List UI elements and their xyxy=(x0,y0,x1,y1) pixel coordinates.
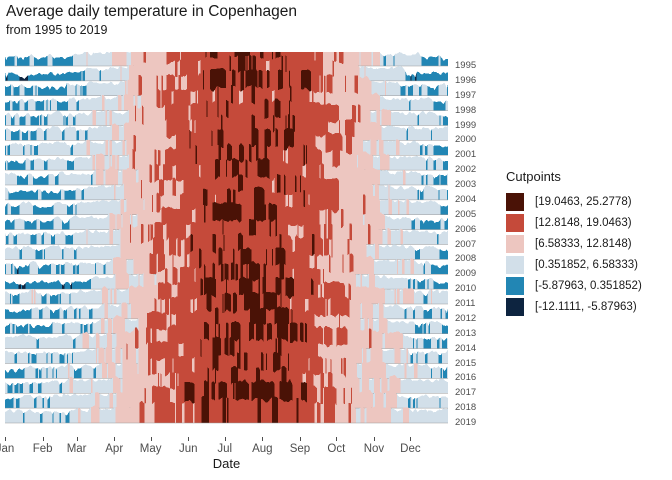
ridgeline-band-area xyxy=(69,293,70,304)
ridgeline-band-area xyxy=(62,129,64,140)
ridgeline-band-area xyxy=(15,383,19,393)
ridgeline-band-area xyxy=(41,380,59,393)
x-tick-mark xyxy=(5,437,6,441)
ridgeline-band-area xyxy=(46,353,47,364)
ridgeline-band-area xyxy=(10,322,12,333)
ridgeline-band-area xyxy=(421,175,423,185)
ridgeline-band-area xyxy=(56,368,57,379)
ridgeline-band-area xyxy=(447,84,448,96)
ridgeline-band-area xyxy=(226,397,227,423)
ridgeline-band-area xyxy=(384,140,396,155)
ridgeline-band-area xyxy=(222,397,226,423)
ridgeline-band-area xyxy=(44,129,46,140)
ridgeline-band-area xyxy=(20,202,33,215)
ridgeline-band-area xyxy=(415,73,416,81)
ridgeline-band-area xyxy=(35,368,37,379)
ridgeline-band-area xyxy=(385,331,403,348)
ridgeline-band-area xyxy=(71,144,73,155)
ridgeline-band-area xyxy=(413,307,415,319)
ridgeline-band-area xyxy=(115,362,122,379)
ridgeline-band-area xyxy=(413,352,417,363)
ridgeline-band-area xyxy=(418,279,425,289)
ridgeline-band-area xyxy=(443,116,448,126)
ridgeline-band-area xyxy=(75,188,81,200)
ridgeline-band-area xyxy=(5,263,6,274)
ridgeline-band-area xyxy=(61,412,66,423)
ridgeline-band-area xyxy=(62,219,69,229)
ridgeline-band-area xyxy=(397,289,399,304)
ridgeline-band-area xyxy=(441,308,442,318)
ridgeline-band-area xyxy=(51,353,52,363)
ridgeline-band-area xyxy=(325,299,326,319)
ridgeline-band-area xyxy=(54,202,67,215)
ridgeline-band-area xyxy=(66,115,68,125)
ridgeline-band-area xyxy=(40,115,41,126)
ridgeline-band-area xyxy=(86,140,90,156)
ridgeline-band-area xyxy=(30,115,38,125)
ridgeline-band-area xyxy=(115,155,116,170)
ridgeline-band-area xyxy=(429,278,434,289)
ridgeline-band-area xyxy=(106,258,113,274)
ridgeline-band-area xyxy=(81,189,83,200)
ridgeline-band-area xyxy=(113,257,126,275)
ridgeline-band-area xyxy=(410,397,412,408)
ridgeline-band-area xyxy=(57,100,68,110)
ridgeline-band-area xyxy=(415,217,420,229)
ridgeline-band-area xyxy=(17,351,28,363)
ridgeline-band-area xyxy=(431,129,432,141)
ridgeline-band-area xyxy=(120,66,121,81)
x-tick-mark xyxy=(410,437,411,441)
ridgeline-band-area xyxy=(50,308,60,319)
ridgeline-band-area xyxy=(37,351,47,363)
ridgeline-band-area xyxy=(441,57,448,66)
year-axis-label: 2013 xyxy=(455,329,476,339)
ridgeline-band-area xyxy=(437,338,439,349)
ridgeline-band-area xyxy=(92,110,96,126)
ridgeline-band-area xyxy=(89,308,93,319)
ridgeline-band-area xyxy=(117,288,129,304)
legend-item[interactable]: [-5.87963, 0.351852) xyxy=(503,275,671,296)
legend-rows: [19.0463, 25.2778)[12.8148, 19.0463)[6.5… xyxy=(503,191,671,317)
ridgeline-band-area xyxy=(68,113,73,125)
ridgeline-band-area xyxy=(7,73,19,81)
ridgeline-band-area xyxy=(399,140,420,155)
year-axis-label: 1996 xyxy=(455,76,476,86)
x-tick-label: Jun xyxy=(179,442,198,456)
ridgeline-band-area xyxy=(115,346,120,364)
ridgeline-band-area xyxy=(395,52,422,66)
ridgeline-band-area xyxy=(18,264,29,274)
ridgeline-band-area xyxy=(427,289,431,304)
ridgeline-band-area xyxy=(395,348,401,364)
ridgeline-band-area xyxy=(361,52,372,66)
ridgeline-band-area xyxy=(101,318,105,334)
ridgeline-band-area xyxy=(118,170,123,185)
ridgeline-band-area xyxy=(44,160,48,170)
x-tick-label: Sep xyxy=(290,442,310,456)
ridgeline-band-area xyxy=(33,205,54,215)
ridgeline-band-area xyxy=(75,333,82,349)
ridgeline-band-area xyxy=(5,397,14,408)
ridgeline-band-area xyxy=(20,395,35,408)
year-axis-label: 2000 xyxy=(455,135,476,145)
ridgeline-band-area xyxy=(95,392,100,408)
ridgeline-band-area xyxy=(418,364,431,379)
ridgeline-band-area xyxy=(153,193,157,214)
ridgeline-band-area xyxy=(438,353,442,363)
ridgeline-band-area xyxy=(33,289,34,304)
ridgeline-band-area xyxy=(47,366,52,378)
ridgeline-band-area xyxy=(60,307,64,319)
ridgeline-band-area xyxy=(5,323,10,333)
ridgeline-band-area xyxy=(20,129,22,140)
ridgeline-band-area xyxy=(47,54,52,66)
ridgeline-band-area xyxy=(368,224,370,245)
legend-item[interactable]: [6.58333, 12.8148) xyxy=(503,233,671,254)
ridgeline-band-area xyxy=(88,52,112,66)
ridgeline-band-area xyxy=(54,367,56,379)
ridgeline-band-area xyxy=(26,113,31,126)
ridgeline-band-area xyxy=(108,288,110,304)
ridgeline-band-area xyxy=(16,323,28,333)
ridgeline-band-area xyxy=(67,353,68,363)
ridgeline-band-area xyxy=(105,155,110,170)
ridgeline-band-area xyxy=(125,81,126,96)
ridgeline-band-area xyxy=(24,219,36,229)
ridgeline-band-area xyxy=(75,264,76,274)
year-axis-label: 2005 xyxy=(455,210,476,220)
ridgeline-band-area xyxy=(418,394,440,408)
ridgeline-band-area xyxy=(391,408,403,423)
ridgeline-band-area xyxy=(380,154,390,171)
ridgeline-band-area xyxy=(358,151,373,170)
ridgeline-band-area xyxy=(125,140,126,155)
ridgeline-band-area xyxy=(62,284,64,289)
ridgeline-band-area xyxy=(324,401,335,423)
ridgeline-band-area xyxy=(73,229,86,245)
ridgeline-band-area xyxy=(329,254,330,274)
ridgeline-band-area xyxy=(63,309,67,319)
ridgeline-band-area xyxy=(412,74,416,81)
ridgeline-band-area xyxy=(96,363,102,379)
ridgeline-band-area xyxy=(415,323,422,333)
ridgeline-band-area xyxy=(40,413,42,423)
ridgeline-band-area xyxy=(20,84,25,96)
legend-item-label: [6.58333, 12.8148) xyxy=(535,237,632,251)
ridgeline-band-area xyxy=(32,145,34,156)
legend-item[interactable]: [12.8148, 19.0463) xyxy=(503,212,671,233)
ridgeline-band-area xyxy=(381,377,387,394)
ridgeline-band-area xyxy=(73,140,86,156)
ridgeline-band-area xyxy=(103,263,105,274)
ridgeline-band-area xyxy=(380,53,384,66)
ridgeline-band-area xyxy=(114,185,115,200)
ridgeline-band-area xyxy=(438,55,440,66)
ridgeline-band-area xyxy=(68,97,77,110)
year-axis-label: 2019 xyxy=(455,418,476,428)
ridgeline-band-area xyxy=(91,378,92,393)
ridgeline-band-area xyxy=(24,366,35,379)
x-tick-label: Jul xyxy=(217,442,232,456)
ridgeline-band-area xyxy=(409,100,410,111)
ridgeline-band-area xyxy=(415,249,420,260)
ridgeline-band-area xyxy=(352,388,373,408)
ridgeline-band-area xyxy=(26,280,62,289)
ridgeline-band-area xyxy=(431,337,437,349)
ridgeline-band-area xyxy=(412,218,416,229)
ridgeline-band-area xyxy=(39,308,43,319)
ridgeline-band-area xyxy=(408,279,410,290)
ridgeline-band-area xyxy=(77,264,79,274)
ridgeline-band-area xyxy=(431,265,448,275)
ridgeline-band-area xyxy=(443,367,447,378)
ridgeline-band-area xyxy=(344,254,350,274)
ridgeline-band-area xyxy=(369,328,371,348)
ridgeline-band-area xyxy=(69,408,77,423)
ridgeline-band-area xyxy=(79,309,80,319)
ridgeline-band-area xyxy=(335,403,348,423)
ridgeline-band-area xyxy=(75,204,76,214)
ridgeline-band-area xyxy=(10,143,23,156)
ridgeline-band-area xyxy=(416,351,417,363)
ridgeline-band-area xyxy=(55,174,59,185)
ridgeline-band-area xyxy=(363,347,367,363)
ridgeline-band-area xyxy=(33,382,38,393)
ridgeline-band-area xyxy=(102,286,108,304)
ridgeline-band-area xyxy=(447,190,448,200)
ridgeline-band-area xyxy=(11,263,12,274)
ridgeline-band-area xyxy=(37,127,44,140)
ridgeline-band-area xyxy=(376,109,380,125)
ridgeline-band-area xyxy=(387,320,415,334)
ridgeline-band-area xyxy=(96,170,103,185)
ridgeline-band-area xyxy=(416,398,417,408)
ridgeline-band-area xyxy=(41,367,46,378)
ridgeline-band-area xyxy=(419,190,420,200)
ridgeline-band-area xyxy=(52,322,62,334)
year-axis-label: 2017 xyxy=(455,388,476,398)
ridgeline-band-area xyxy=(72,352,73,363)
ridgeline-band-area xyxy=(427,279,428,289)
ridgeline-band-area xyxy=(432,366,441,378)
ridgeline-band-area xyxy=(29,353,31,364)
ridgeline-band-area xyxy=(379,302,384,319)
ridgeline-band-area xyxy=(361,303,362,319)
ridgeline-band-area xyxy=(407,199,409,215)
legend-item[interactable]: [19.0463, 25.2778) xyxy=(503,191,671,212)
ridgeline-band-area xyxy=(333,328,337,348)
ridgeline-band-area xyxy=(7,144,9,155)
ridgeline-band-area xyxy=(47,396,49,408)
ridgeline-band-area xyxy=(15,55,17,66)
chart-subtitle: from 1995 to 2019 xyxy=(6,22,486,39)
legend-item[interactable]: [0.351852, 6.58333) xyxy=(503,254,671,275)
ridgeline-band-area xyxy=(9,232,14,244)
ridgeline-band-area xyxy=(11,293,12,304)
ridgeline-band-area xyxy=(440,115,441,125)
ridgeline-band-area xyxy=(109,213,115,230)
ridgeline-band-area xyxy=(414,260,424,274)
ridgeline-band-area xyxy=(61,189,65,200)
ridgeline-band-area xyxy=(401,86,406,96)
year-axis-label: 1995 xyxy=(455,61,476,71)
ridgeline-band-area xyxy=(384,392,386,408)
ridgeline-band-area xyxy=(28,353,29,364)
ridgeline-band-area xyxy=(440,174,441,185)
ridgeline-band-area xyxy=(47,157,66,170)
ridgeline-band-area xyxy=(28,71,81,81)
ridgeline-band-area xyxy=(182,402,184,423)
ridgeline-band-area xyxy=(112,289,114,304)
ridgeline-band-area xyxy=(79,95,102,111)
ridgeline-band-area xyxy=(443,161,448,170)
ridgeline-band-area xyxy=(14,85,20,95)
ridgeline-band-area xyxy=(66,234,73,244)
ridgeline-band-area xyxy=(83,70,85,81)
ridgeline-band-area xyxy=(157,253,158,274)
ridgeline-band-area xyxy=(365,196,380,215)
ridgeline-band-area xyxy=(403,334,413,349)
x-tick-mark xyxy=(262,437,263,441)
ridgeline-band-area xyxy=(60,264,61,274)
ridgeline-band-area xyxy=(406,85,408,96)
ridgeline-band-area xyxy=(136,348,138,364)
ridgeline-band-area xyxy=(88,229,110,244)
ridgeline-band-area xyxy=(44,232,51,245)
x-tick-mark xyxy=(43,437,44,441)
ridgeline-band-area xyxy=(80,324,82,334)
ridgeline-band-area xyxy=(5,84,11,95)
ridgeline-band-area xyxy=(67,306,74,319)
ridgeline-band-area xyxy=(67,204,73,215)
ridgeline-band-area xyxy=(414,338,416,349)
ridgeline-band-area xyxy=(6,263,11,274)
ridgeline-band-area xyxy=(64,262,73,274)
ridgeline-band-area xyxy=(23,145,24,155)
ridgeline-band-area xyxy=(436,158,443,170)
ridgeline-band-area xyxy=(69,377,73,394)
ridgeline-band-area xyxy=(418,351,425,363)
ridgeline-band-area xyxy=(74,248,76,259)
ridgeline-band-area xyxy=(54,216,62,229)
ridgeline-band-area xyxy=(67,160,74,170)
ridgeline-band-area xyxy=(380,378,381,393)
ridgeline-band-area xyxy=(44,396,48,408)
ridgeline-band-area xyxy=(24,409,40,423)
x-tick-label: Aug xyxy=(252,442,272,456)
ridgeline-band-area xyxy=(35,249,42,259)
year-axis: 1995199619971998199920002001200220032004… xyxy=(452,52,498,437)
ridgeline-band-area xyxy=(34,56,47,66)
ridgeline-band-area xyxy=(20,99,25,111)
ridgeline-band-area xyxy=(403,288,414,304)
ridgeline-band-area xyxy=(24,144,30,155)
ridgeline-band-area xyxy=(423,144,425,155)
ridgeline-band-area xyxy=(420,144,422,155)
ridgeline-band-area xyxy=(314,402,316,423)
ridgeline-band-area xyxy=(105,95,118,111)
ridgeline-band-area xyxy=(96,110,106,126)
ridgeline-band-area xyxy=(7,159,25,170)
ridgeline-band-area xyxy=(112,140,123,155)
x-tick-label: Nov xyxy=(364,442,384,456)
ridgeline-band-area xyxy=(78,408,80,423)
ridgeline-band-area xyxy=(441,368,442,379)
ridgeline-band-area xyxy=(34,145,38,155)
ridgeline-band-area xyxy=(359,52,360,66)
legend-color-swatch xyxy=(506,277,524,295)
ridgeline-band-area xyxy=(28,130,30,140)
ridgeline-band-area xyxy=(404,308,406,319)
ridgeline-band-area xyxy=(26,158,31,170)
ridgeline-band-area xyxy=(424,338,431,348)
ridgeline-band-area xyxy=(117,214,122,230)
ridgeline-band-area xyxy=(64,353,66,364)
ridgeline-band-area xyxy=(64,282,70,289)
ridgeline-band-area xyxy=(14,397,16,408)
ridgeline-band-area xyxy=(408,85,413,96)
ridgeline-band-area xyxy=(446,101,448,111)
ridgeline-band-area xyxy=(38,368,39,379)
ridgeline-band-area xyxy=(32,289,33,304)
ridgeline-band-area xyxy=(34,397,36,409)
ridgeline-band-area xyxy=(97,348,98,364)
legend-item-label: [-12.1111, -5.87963) xyxy=(535,300,637,314)
ridgeline-band-area xyxy=(71,288,103,304)
ridgeline-band-area xyxy=(24,100,28,111)
ridgeline-band-area xyxy=(112,347,116,363)
ridgeline-band-area xyxy=(346,133,352,155)
x-tick-mark xyxy=(77,437,78,441)
ridgeline-band-area xyxy=(143,224,148,244)
title-block: Average daily temperature in Copenhagen … xyxy=(6,2,486,39)
ridgeline-band-area xyxy=(441,115,443,125)
ridgeline-band-area xyxy=(418,338,424,349)
ridgeline-band-area xyxy=(427,174,433,185)
ridgeline-band-area xyxy=(14,234,18,244)
ridgeline-band-area xyxy=(17,56,29,66)
ridgeline-band-area xyxy=(79,263,95,275)
ridgeline-band-area xyxy=(90,322,92,334)
ridgeline-band-area xyxy=(7,383,12,393)
ridgeline-band-area xyxy=(176,401,182,423)
ridgeline-band-area xyxy=(424,175,426,185)
legend-color-swatch xyxy=(506,214,524,232)
ridgeline-band-area xyxy=(415,279,417,289)
ridgeline-band-area xyxy=(420,219,441,230)
ridgeline-band-area xyxy=(43,398,44,408)
ridgeline-band-area xyxy=(373,154,380,170)
ridgeline-band-area xyxy=(384,304,405,318)
x-tick-mark xyxy=(188,437,189,441)
ridgeline-band-area xyxy=(64,190,75,200)
ridgeline-band-area xyxy=(353,255,374,274)
legend-item[interactable]: [-12.1111, -5.87963) xyxy=(503,296,671,317)
ridgeline-band-area xyxy=(69,363,74,378)
ridgeline-band-area xyxy=(62,249,63,259)
ridgeline-band-area xyxy=(398,259,402,274)
ridgeline-band-area xyxy=(30,145,31,156)
ridgeline-band-area xyxy=(37,338,39,348)
ridgeline-band-area xyxy=(410,279,412,290)
ridgeline-band-area xyxy=(404,259,410,274)
ridgeline-band-area xyxy=(80,305,89,319)
ridgeline-band-area xyxy=(402,259,404,274)
legend-color-swatch xyxy=(506,235,524,253)
ridgeline-band-area xyxy=(23,382,29,393)
ridgeline-band-area xyxy=(401,229,403,245)
